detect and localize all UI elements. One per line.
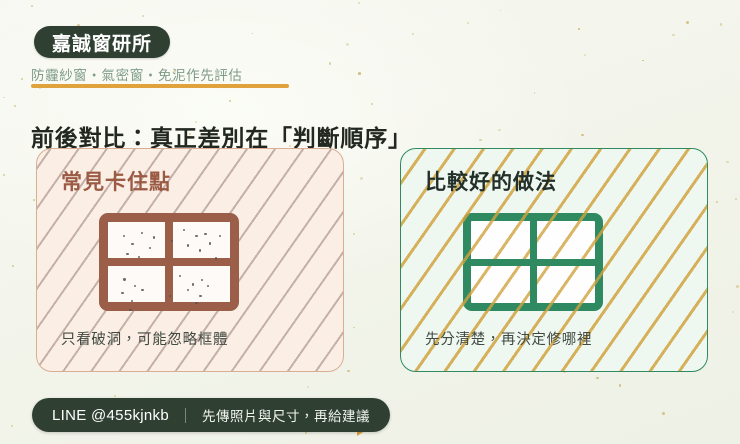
brand-subtitle: 防霾紗窗・氣密窗・免泥作先評估 xyxy=(31,64,243,84)
card-common-problem-title: 常見卡住點 xyxy=(61,166,171,196)
brand-underline-rule xyxy=(31,84,289,88)
contact-footer-pill[interactable]: LINE @455kjnkb ｜ 先傳照片與尺寸，再給建議 xyxy=(32,398,390,432)
card-common-problem-caption: 只看破洞，可能忽略框體 xyxy=(61,328,228,349)
card-better-approach-title: 比較好的做法 xyxy=(425,166,557,196)
card-better-approach: 比較好的做法 先分清楚，再決定修哪裡 xyxy=(400,148,708,372)
card-common-problem: 常見卡住點 只看破洞，可能忽略框體 xyxy=(36,148,344,372)
comparison-section: 常見卡住點 只看破洞，可能忽略框體 比較好的做法 先分清楚，再決定修哪裡 xyxy=(0,148,740,376)
footer-note-label: 先傳照片與尺寸，再給建議 xyxy=(202,405,370,425)
footer-divider: ｜ xyxy=(178,405,193,426)
window-mullion-horizontal xyxy=(471,259,595,266)
window-mullion-horizontal xyxy=(108,258,230,266)
card-better-approach-caption: 先分清楚，再決定修哪裡 xyxy=(425,328,592,349)
line-id-label: LINE @455kjnkb xyxy=(52,407,169,424)
poster-canvas: 嘉誠窗研所 防霾紗窗・氣密窗・免泥作先評估 前後對比：真正差別在「判斷順序」 常… xyxy=(0,0,740,444)
window-frame-damaged-icon xyxy=(99,213,239,311)
brand-badge: 嘉誠窗研所 xyxy=(34,26,170,58)
brand-badge-label: 嘉誠窗研所 xyxy=(52,29,152,56)
window-frame-intact-icon xyxy=(463,213,603,311)
